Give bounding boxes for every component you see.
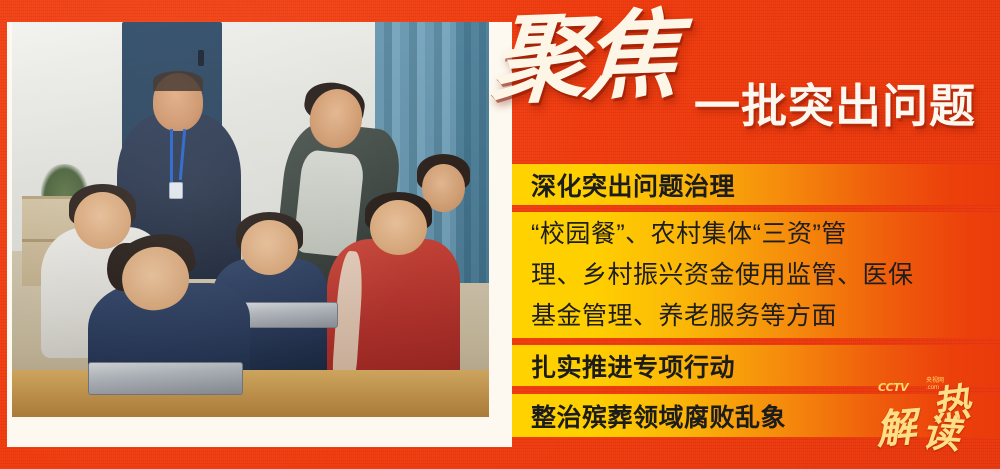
section-body-bar: “校园餐”、农村集体“三资”管 理、乡村振兴资金使用监管、医保 基金管理、养老服… xyxy=(512,212,1000,338)
page-title-brush: 聚焦 xyxy=(487,7,678,109)
photo-meal-tray-front xyxy=(88,362,243,396)
cctv-wordmark: CCTV xyxy=(878,381,908,394)
cafeteria-photo xyxy=(12,22,489,417)
section-body-line-3: 基金管理、养老服务等方面 xyxy=(531,296,837,337)
section-heading-text-1: 深化突出问题治理 xyxy=(512,167,735,203)
photo-standing-man-hair xyxy=(153,71,203,91)
photo-student-right-head xyxy=(370,200,427,255)
photo-door-handle xyxy=(198,50,204,66)
photo-student-left-head xyxy=(74,192,131,249)
section-body-line-2: 理、乡村振兴资金使用监管、医保 xyxy=(531,255,914,296)
page-subtitle: 一批突出问题 xyxy=(694,70,976,136)
photo-frame xyxy=(7,22,503,447)
section-heading-bar-1: 深化突出问题治理 xyxy=(512,164,1000,205)
logo-glyph-jie: 解 xyxy=(874,407,917,450)
logo-glyph-du: 读 xyxy=(921,414,962,455)
poster-root: 聚焦 一批突出问题 深化突出问题治理 “校园餐”、农村集体“三资”管 理、乡村振… xyxy=(0,0,1000,469)
photo-standing-man-badge xyxy=(169,182,183,199)
section-heading-text-2: 扎实推进专项行动 xyxy=(512,348,735,384)
photo-standing-man-lanyard xyxy=(170,129,173,184)
cctv-redu-logo: CCTV 央视网 .com 热 解 读 xyxy=(870,369,986,461)
section-heading-text-3: 整治殡葬领域腐败乱象 xyxy=(512,398,786,434)
section-body-line-1: “校园餐”、农村集体“三资”管 xyxy=(531,214,847,255)
photo-curtain-secondary xyxy=(456,22,489,283)
headline-block: 聚焦 一批突出问题 xyxy=(487,14,992,144)
photo-desk-front xyxy=(12,370,489,417)
